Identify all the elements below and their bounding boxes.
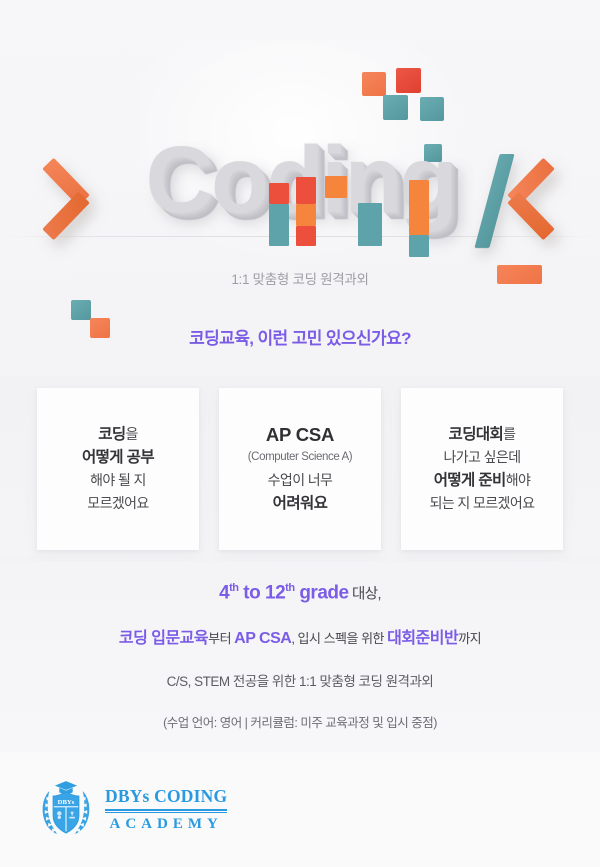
card-study-method: 코딩을 어떻게 공부 해야 될 지 모르겠어요	[37, 388, 199, 550]
card-text-bold: 어떻게 준비	[434, 472, 506, 489]
card-competition-prep: 코딩대회를 나가고 싶은데 어떻게 준비해야 되는 지 모르겠어요	[401, 388, 563, 550]
bracket-right-icon	[505, 158, 557, 238]
grade-mid: to 12	[239, 582, 286, 603]
hero-question-headline: 코딩교육, 이런 고민 있으신가요?	[0, 324, 600, 349]
dbys-shield-crest-icon: DBYs	[38, 780, 94, 838]
glyph-block-teal-n	[358, 203, 382, 246]
curriculum-range-line: 코딩 입문교육부터 AP CSA, 입시 스펙을 위한 대회준비반까지	[0, 624, 600, 648]
card-line: 코딩을	[98, 423, 138, 446]
grade-suffix: grade	[295, 582, 349, 603]
bracket-left-icon	[42, 158, 94, 238]
curriculum-highlight-2: AP CSA	[234, 630, 291, 647]
brand-line-2: ACADEMY	[105, 812, 227, 833]
glyph-block-orange-1	[296, 204, 316, 226]
card-line: 되는 지 모르겠어요	[430, 492, 535, 515]
card-line: 어떻게 준비해야	[434, 469, 531, 492]
glyph-block-teal-1	[269, 204, 289, 246]
curriculum-highlight-3: 대회준비반	[387, 630, 458, 647]
card-text-suffix: 를	[503, 426, 515, 442]
card-text-suffix: 해야	[506, 472, 531, 488]
card-line: 어떻게 공부	[82, 446, 154, 469]
poster-root: Coding 1:1 맞춤형 코딩 원격과외 코딩교육, 이런 고민 있으신가요…	[0, 0, 600, 867]
card-text-bold: 코딩대회	[449, 426, 504, 443]
pain-point-cards: 코딩을 어떻게 공부 해야 될 지 모르겠어요 AP CSA (Computer…	[0, 376, 600, 556]
footer-section: DBYs DBYs CODING ACADEMY 카카오톡 dbyou	[0, 752, 600, 867]
decor-cube-teal-left	[71, 300, 91, 320]
glyph-block-orange-dot	[325, 176, 347, 198]
program-description: 4th to 12th grade 대상, 코딩 입문교육부터 AP CSA, …	[0, 562, 600, 752]
brand-line-1: DBYs CODING	[105, 786, 227, 811]
major-focus-line: C/S, STEM 전공을 위한 1:1 맞춤형 코딩 원격과외	[0, 670, 600, 690]
curriculum-highlight-1: 코딩 입문교육	[119, 630, 208, 647]
card-line: 코딩대회를	[449, 423, 516, 446]
glyph-block-orange-g	[409, 180, 429, 235]
language-curriculum-note: (수업 언어: 영어 | 커리큘럼: 미주 교육과정 및 입시 중점)	[0, 712, 600, 731]
card-line: AP CSA	[266, 423, 334, 446]
brand-lockup[interactable]: DBYs DBYs CODING ACADEMY	[38, 780, 227, 838]
hero-section: Coding 1:1 맞춤형 코딩 원격과외 코딩교육, 이런 고민 있으신가요…	[0, 0, 600, 375]
card-line: 해야 될 지	[90, 469, 146, 492]
grade-start: 4	[219, 582, 229, 603]
card-text-suffix: 을	[126, 426, 138, 442]
card-line: 어려워요	[273, 492, 328, 515]
glyph-block-red-1	[269, 183, 289, 204]
glyph-block-red-2	[296, 177, 316, 204]
hero-tagline: 1:1 맞춤형 코딩 원격과외	[0, 268, 600, 288]
decor-cube-teal-top-b	[420, 97, 444, 121]
curriculum-plain-2: , 입시 스펙을 위한	[291, 631, 387, 646]
grade-range-line: 4th to 12th grade 대상,	[0, 582, 600, 604]
curriculum-plain-1: 부터	[208, 631, 234, 646]
card-line: 모르겠어요	[87, 492, 148, 515]
decor-cube-red-top	[396, 68, 421, 93]
card-text-bold: 코딩	[98, 426, 125, 443]
glyph-block-red-3	[296, 226, 316, 246]
card-line: (Computer Science A)	[248, 446, 353, 469]
decor-cube-orange-top	[362, 72, 386, 96]
card-line: 나가고 싶은데	[444, 446, 521, 469]
grade-korean-suffix: 대상,	[349, 586, 381, 602]
crest-label: DBYs	[58, 799, 75, 806]
card-ap-csa: AP CSA (Computer Science A) 수업이 너무 어려워요	[219, 388, 381, 550]
decor-cube-teal-top-a	[383, 95, 408, 120]
curriculum-plain-3: 까지	[458, 631, 481, 646]
card-line: 수업이 너무	[268, 469, 333, 492]
grade-sup-2: th	[285, 582, 294, 594]
glyph-block-teal-g	[409, 235, 429, 257]
brand-wordmark: DBYs CODING ACADEMY	[105, 786, 227, 833]
grade-sup-1: th	[229, 582, 238, 594]
